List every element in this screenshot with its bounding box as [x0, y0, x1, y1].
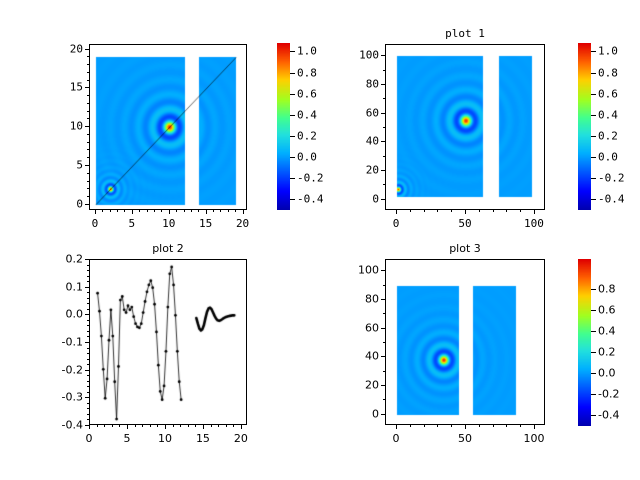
panel-bottom-right-ytick-minor — [383, 414, 385, 415]
figure-canvas: 05101520051015201.00.80.60.40.20.0-0.2-0… — [0, 0, 640, 480]
panel-bottom-right-colorbar-tick — [591, 415, 596, 416]
panel-top-left-ytick-label: 10 — [47, 121, 83, 132]
panel-bottom-left-xtick-minor — [165, 425, 166, 427]
panel-bottom-right-ytick-label: 80 — [343, 294, 379, 305]
panel-top-left-ytick-minor — [87, 181, 89, 182]
panel-top-left-xtick-minor — [184, 210, 185, 212]
panel-bottom-right-xtick-minor — [465, 425, 466, 427]
panel-top-left-xtick-minor — [95, 210, 96, 212]
panel-top-left-ytick-minor — [87, 103, 89, 104]
panel-top-right-colorbar-label: 0.8 — [598, 67, 618, 78]
panel-bottom-left-xtick-minor — [97, 425, 98, 427]
panel-bottom-left-ytick-minor — [87, 425, 89, 426]
panel-bottom-left-ytick-minor — [87, 270, 89, 271]
panel-bottom-right-colorbar-tick — [591, 373, 596, 374]
panel-bottom-left-xtick-minor — [173, 425, 174, 427]
panel-top-left-xtick-minor — [243, 210, 244, 212]
panel-bottom-left-ytick-minor — [87, 331, 89, 332]
panel-bottom-right-axes — [385, 259, 545, 425]
panel-top-left-colorbar-label: -0.4 — [297, 194, 324, 205]
panel-bottom-left-ytick-minor — [87, 359, 89, 360]
panel-bottom-left-ytick-minor — [87, 303, 89, 304]
panel-bottom-right-ytick-minor — [383, 399, 385, 400]
panel-top-left-colorbar — [277, 43, 290, 210]
panel-bottom-right-ytick-minor — [383, 328, 385, 329]
panel-bottom-right-xtick-minor — [479, 425, 480, 427]
panel-bottom-left-ytick-minor — [87, 386, 89, 387]
panel-top-left-ytick-minor — [87, 173, 89, 174]
panel-bottom-right-xtick-label: 50 — [458, 433, 472, 444]
panel-bottom-left-ytick-minor — [87, 381, 89, 382]
panel-top-left-colorbar-tick — [290, 115, 295, 116]
panel-bottom-right-xtick-minor — [493, 425, 494, 427]
panel-top-right-ytick-minor — [383, 141, 385, 142]
panel-bottom-left-axes — [89, 259, 247, 425]
panel-bottom-left-xtick-minor — [119, 425, 120, 427]
panel-top-left-xtick-label: 20 — [236, 218, 249, 229]
panel-bottom-left-ytick-minor — [87, 375, 89, 376]
panel-top-left-xtick-minor — [117, 210, 118, 212]
panel-top-right-colorbar-label: 0.4 — [598, 109, 618, 120]
panel-top-right-ytick-minor — [383, 84, 385, 85]
panel-bottom-right-colorbar-label: 0.6 — [598, 304, 616, 315]
panel-bottom-right-xtick-minor — [506, 425, 507, 427]
panel-bottom-left-ytick-minor — [87, 403, 89, 404]
panel-top-left-colorbar-label: 0.0 — [297, 152, 317, 163]
panel-bottom-left-xtick-minor — [104, 425, 105, 427]
panel-top-right-xtick-minor — [465, 210, 466, 212]
panel-bottom-right-ytick-label: 40 — [343, 351, 379, 362]
panel-top-left-colorbar-tick — [290, 199, 295, 200]
panel-bottom-right-xtick-minor — [396, 425, 397, 427]
panel-top-left-xtick-minor — [154, 210, 155, 212]
panel-bottom-right-colorbar-label: -0.2 — [598, 389, 619, 400]
panel-top-right-xtick-minor — [396, 210, 397, 212]
panel-top-right-axes — [385, 44, 545, 210]
panel-bottom-left-ytick-minor — [87, 392, 89, 393]
panel-top-right-ytick-label: 40 — [343, 136, 379, 147]
panel-top-right-ytick-minor — [383, 184, 385, 185]
panel-bottom-right-colorbar-label: 0.4 — [598, 325, 616, 336]
panel-top-right-image — [386, 45, 545, 210]
panel-top-left-ytick-minor — [87, 134, 89, 135]
panel-top-left-colorbar-tick — [290, 178, 295, 179]
panel-top-right-ytick-minor — [383, 70, 385, 71]
panel-top-right-xtick-minor — [534, 210, 535, 212]
panel-top-left-image — [90, 45, 247, 210]
panel-top-left-xtick-minor — [176, 210, 177, 212]
panel-bottom-left-ytick-label: -0.4 — [47, 420, 83, 431]
panel-top-left-ytick-minor — [87, 165, 89, 166]
panel-top-right-colorbar-label: -0.4 — [598, 194, 625, 205]
panel-top-right-xtick-label: 50 — [458, 218, 471, 229]
panel-bottom-right-ytick-minor — [383, 385, 385, 386]
panel-top-right-ytick-label: 20 — [343, 164, 379, 175]
panel-bottom-left-line-series — [90, 260, 247, 425]
panel-top-left-ytick-minor — [87, 157, 89, 158]
panel-bottom-left-ytick-label: 0.1 — [47, 281, 83, 292]
panel-top-right-title: plot 1 — [385, 28, 545, 39]
panel-bottom-right-xtick-minor — [424, 425, 425, 427]
panel-bottom-right-ytick-label: 60 — [343, 322, 379, 333]
panel-top-left-colorbar-tick — [290, 94, 295, 95]
panel-bottom-left-xtick-label: 5 — [123, 433, 130, 444]
panel-top-left-ytick-minor — [87, 111, 89, 112]
panel-top-left-colorbar-label: 0.4 — [297, 109, 317, 120]
panel-bottom-right-colorbar-tick — [591, 352, 596, 353]
panel-bottom-left-ytick-minor — [87, 325, 89, 326]
panel-top-right-xtick-label: 100 — [524, 218, 544, 229]
panel-top-left-ytick-minor — [87, 49, 89, 50]
panel-bottom-left-xtick-label: 10 — [158, 433, 172, 444]
panel-top-left-ytick-minor — [87, 188, 89, 189]
panel-top-left-xtick-minor — [235, 210, 236, 212]
panel-bottom-right-ytick-minor — [383, 313, 385, 314]
panel-top-left-xtick-minor — [139, 210, 140, 212]
panel-bottom-left-ytick-minor — [87, 414, 89, 415]
panel-top-left-ytick-minor — [87, 72, 89, 73]
panel-top-right-colorbar-label: 0.0 — [598, 152, 618, 163]
panel-bottom-left-ytick-minor — [87, 342, 89, 343]
panel-top-right-ytick-label: 80 — [343, 79, 379, 90]
panel-top-left-xtick-minor — [228, 210, 229, 212]
panel-bottom-right-colorbar-label: -0.4 — [598, 410, 619, 421]
panel-top-left-xtick-minor — [147, 210, 148, 212]
panel-bottom-left-ytick-minor — [87, 370, 89, 371]
panel-top-left-ytick-minor — [87, 142, 89, 143]
panel-bottom-right-colorbar-label: 0.0 — [598, 368, 616, 379]
panel-bottom-right-ytick-label: 0 — [343, 408, 379, 419]
panel-top-right-colorbar-tick — [591, 94, 596, 95]
panel-top-left-colorbar-label: 0.2 — [297, 131, 317, 142]
panel-top-right-colorbar-label: -0.2 — [598, 173, 625, 184]
panel-bottom-left-ytick-label: -0.2 — [47, 364, 83, 375]
panel-top-left-xtick-minor — [110, 210, 111, 212]
panel-bottom-right-title: plot 3 — [385, 243, 545, 254]
panel-bottom-left-ytick-label: 0.0 — [47, 309, 83, 320]
panel-top-left-xtick-minor — [161, 210, 162, 212]
panel-bottom-right-colorbar — [578, 259, 591, 426]
panel-bottom-left-ytick-minor — [87, 419, 89, 420]
panel-bottom-right-ytick-label: 20 — [343, 379, 379, 390]
panel-bottom-left-xtick-minor — [142, 425, 143, 427]
panel-top-left-xtick-label: 10 — [162, 218, 175, 229]
panel-top-left-xtick-label: 15 — [199, 218, 212, 229]
panel-bottom-left-ytick-minor — [87, 397, 89, 398]
panel-bottom-right-xtick-minor — [520, 425, 521, 427]
panel-bottom-left-xtick-minor — [180, 425, 181, 427]
panel-bottom-left-xtick-minor — [203, 425, 204, 427]
panel-top-right-xtick-minor — [506, 210, 507, 212]
panel-top-left-ytick-label: 20 — [47, 43, 83, 54]
panel-bottom-left-xtick-label: 20 — [234, 433, 248, 444]
panel-top-right-colorbar-tick — [591, 73, 596, 74]
panel-bottom-right-colorbar-tick — [591, 394, 596, 395]
panel-bottom-left-ytick-minor — [87, 364, 89, 365]
panel-top-left-xtick-minor — [132, 210, 133, 212]
panel-top-left-ytick-minor — [87, 64, 89, 65]
panel-top-left-xtick-minor — [124, 210, 125, 212]
panel-top-right-ytick-minor — [383, 156, 385, 157]
panel-top-left-xtick-label: 5 — [129, 218, 136, 229]
panel-bottom-left-ytick-minor — [87, 320, 89, 321]
panel-bottom-left-ytick-minor — [87, 298, 89, 299]
panel-top-right-ytick-minor — [383, 170, 385, 171]
panel-bottom-left-xtick-minor — [211, 425, 212, 427]
panel-bottom-left-xtick-minor — [218, 425, 219, 427]
panel-top-left-ytick-label: 15 — [47, 82, 83, 93]
panel-top-left-xtick-minor — [213, 210, 214, 212]
panel-top-left-ytick-minor — [87, 149, 89, 150]
panel-top-right-xtick-minor — [424, 210, 425, 212]
panel-bottom-left-xtick-minor — [188, 425, 189, 427]
panel-top-left-colorbar-tick — [290, 136, 295, 137]
panel-bottom-left-xtick-minor — [112, 425, 113, 427]
panel-bottom-left-xtick-label: 0 — [86, 433, 93, 444]
panel-top-right-colorbar-tick — [591, 199, 596, 200]
panel-bottom-left-ytick-minor — [87, 287, 89, 288]
panel-bottom-left-xtick-minor — [127, 425, 128, 427]
panel-bottom-left-xtick-minor — [135, 425, 136, 427]
panel-bottom-left-ytick-minor — [87, 259, 89, 260]
panel-bottom-left-ytick-minor — [87, 276, 89, 277]
panel-bottom-right-xtick-minor — [534, 425, 535, 427]
panel-top-right-xtick-minor — [479, 210, 480, 212]
panel-bottom-right-colorbar-tick — [591, 331, 596, 332]
panel-bottom-right-colorbar-label: 0.8 — [598, 283, 616, 294]
panel-top-right-ytick-minor — [383, 55, 385, 56]
panel-top-right-ytick-label: 100 — [343, 50, 379, 61]
panel-top-right-ytick-label: 60 — [343, 107, 379, 118]
panel-top-left-xtick-minor — [206, 210, 207, 212]
panel-top-left-ytick-label: 0 — [47, 198, 83, 209]
panel-top-left-colorbar-tick — [290, 51, 295, 52]
panel-bottom-left-ytick-label: 0.2 — [47, 254, 83, 265]
panel-bottom-right-ytick-minor — [383, 270, 385, 271]
panel-top-right-ytick-minor — [383, 199, 385, 200]
panel-bottom-right-colorbar-tick — [591, 310, 596, 311]
panel-top-left-ytick-minor — [87, 126, 89, 127]
panel-top-right-colorbar-tick — [591, 178, 596, 179]
panel-top-right-colorbar-label: 0.2 — [598, 131, 618, 142]
panel-bottom-right-image — [386, 260, 545, 425]
panel-top-right-ytick-minor — [383, 113, 385, 114]
panel-top-right-colorbar-tick — [591, 51, 596, 52]
panel-top-left-xtick-minor — [169, 210, 170, 212]
panel-top-right-colorbar-tick — [591, 115, 596, 116]
panel-top-left-xtick-minor — [191, 210, 192, 212]
panel-bottom-right-ytick-minor — [383, 285, 385, 286]
panel-top-right-colorbar-tick — [591, 136, 596, 137]
panel-top-left-xtick-minor — [198, 210, 199, 212]
panel-bottom-right-ytick-minor — [383, 299, 385, 300]
panel-top-left-axes — [89, 44, 247, 210]
panel-top-left-ytick-minor — [87, 118, 89, 119]
panel-top-right-ytick-minor — [383, 127, 385, 128]
panel-top-left-ytick-minor — [87, 196, 89, 197]
panel-top-left-colorbar-label: 0.8 — [297, 67, 317, 78]
panel-bottom-left-xtick-minor — [241, 425, 242, 427]
panel-top-left-ytick-label: 5 — [47, 160, 83, 171]
panel-bottom-left-ytick-label: -0.3 — [47, 392, 83, 403]
panel-bottom-right-ytick-label: 100 — [343, 265, 379, 276]
panel-bottom-left-xtick-label: 15 — [196, 433, 210, 444]
panel-bottom-left-title: plot 2 — [89, 243, 247, 254]
panel-top-left-colorbar-label: 0.6 — [297, 88, 317, 99]
panel-top-left-xtick-minor — [220, 210, 221, 212]
panel-bottom-left-xtick-minor — [226, 425, 227, 427]
panel-top-right-xtick-minor — [451, 210, 452, 212]
panel-bottom-left-ytick-minor — [87, 265, 89, 266]
panel-bottom-right-ytick-minor — [383, 356, 385, 357]
panel-bottom-right-ytick-minor — [383, 342, 385, 343]
panel-bottom-left-xtick-minor — [89, 425, 90, 427]
panel-bottom-left-ytick-minor — [87, 353, 89, 354]
panel-bottom-left-ytick-minor — [87, 292, 89, 293]
panel-top-right-colorbar-label: 0.6 — [598, 88, 618, 99]
panel-bottom-left-ytick-minor — [87, 408, 89, 409]
panel-top-left-ytick-minor — [87, 95, 89, 96]
panel-top-right-ytick-minor — [383, 98, 385, 99]
panel-bottom-right-xtick-label: 0 — [393, 433, 400, 444]
panel-bottom-left-xtick-minor — [195, 425, 196, 427]
panel-top-right-colorbar-label: 1.0 — [598, 46, 618, 57]
panel-top-right-xtick-minor — [410, 210, 411, 212]
panel-top-right-colorbar — [578, 43, 591, 210]
panel-bottom-left-ytick-minor — [87, 309, 89, 310]
panel-top-right-xtick-minor — [520, 210, 521, 212]
panel-top-left-colorbar-label: -0.2 — [297, 173, 324, 184]
panel-top-right-xtick-label: 0 — [393, 218, 400, 229]
panel-top-left-xtick-minor — [102, 210, 103, 212]
panel-bottom-right-xtick-minor — [410, 425, 411, 427]
panel-bottom-right-colorbar-label: 0.2 — [598, 347, 616, 358]
panel-top-left-colorbar-label: 1.0 — [297, 46, 317, 57]
panel-bottom-left-xtick-minor — [150, 425, 151, 427]
panel-bottom-right-xtick-minor — [451, 425, 452, 427]
panel-bottom-left-xtick-minor — [157, 425, 158, 427]
panel-top-right-colorbar-tick — [591, 157, 596, 158]
panel-bottom-left-ytick-minor — [87, 314, 89, 315]
panel-top-right-xtick-minor — [493, 210, 494, 212]
panel-bottom-right-colorbar-tick — [591, 289, 596, 290]
panel-bottom-right-ytick-minor — [383, 371, 385, 372]
panel-top-left-colorbar-tick — [290, 157, 295, 158]
panel-top-left-ytick-minor — [87, 80, 89, 81]
panel-top-right-ytick-label: 0 — [343, 193, 379, 204]
panel-top-left-ytick-minor — [87, 56, 89, 57]
panel-bottom-left-ytick-minor — [87, 281, 89, 282]
panel-bottom-left-ytick-minor — [87, 336, 89, 337]
panel-bottom-left-ytick-label: -0.1 — [47, 337, 83, 348]
panel-top-left-colorbar-tick — [290, 73, 295, 74]
panel-bottom-right-xtick-label: 100 — [523, 433, 544, 444]
panel-top-left-ytick-minor — [87, 87, 89, 88]
panel-bottom-right-xtick-minor — [437, 425, 438, 427]
panel-top-left-ytick-minor — [87, 204, 89, 205]
panel-bottom-left-xtick-minor — [233, 425, 234, 427]
panel-bottom-left-ytick-minor — [87, 348, 89, 349]
panel-top-left-xtick-label: 0 — [92, 218, 99, 229]
panel-top-right-xtick-minor — [437, 210, 438, 212]
